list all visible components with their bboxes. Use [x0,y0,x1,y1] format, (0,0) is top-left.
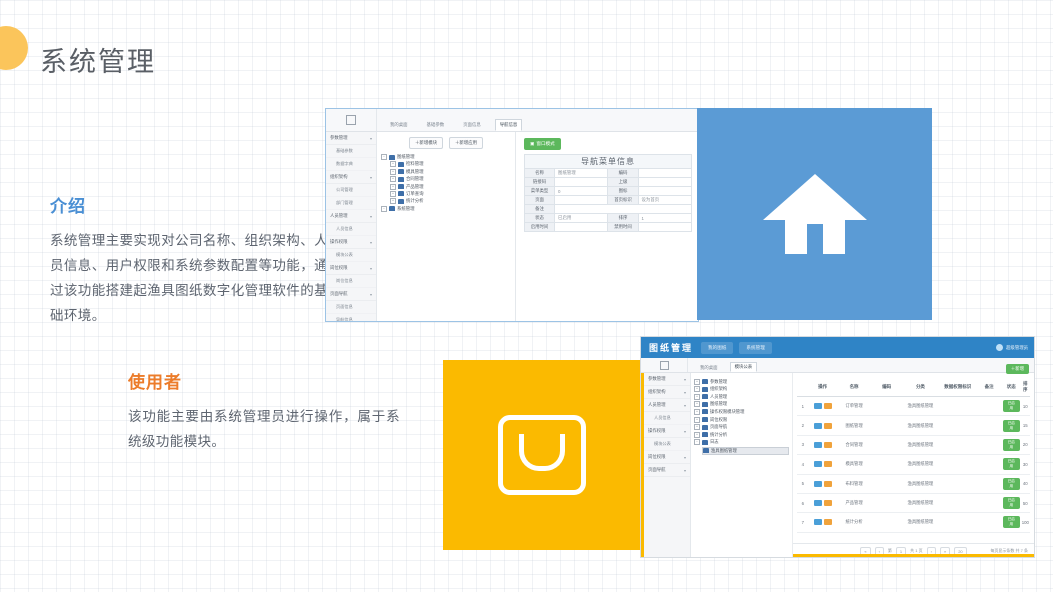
edit-icon[interactable] [824,423,832,429]
expand-icon[interactable]: + [694,401,700,407]
row-actions [810,481,836,487]
bottom-app-body: 参数管理 ▾ 组织架构 ▾ 人员管理 ▾ 人员信息 操作权限 ▾ 模块公表 岗位… [641,373,1034,558]
section-intro-body: 系统管理主要实现对公司名称、组织架构、人员信息、用户权限和系统参数配置等功能，通… [50,228,328,328]
field-value[interactable]: 1 [638,214,691,223]
field-value[interactable] [555,178,608,187]
cell-index: 3 [797,435,809,454]
sidebar-item-module-list[interactable]: 模块公表 [326,249,376,262]
panel-bag-illustration [443,360,640,550]
expand-icon[interactable]: + [390,191,396,197]
sidebar-item-module-list[interactable]: 模块公表 [644,438,690,451]
tab-basic-params[interactable]: 基础参数 [422,119,450,131]
folder-icon [702,402,708,407]
table-row[interactable]: 7 统计分析 渔具图纸管理 已启用 100 [797,513,1030,532]
sidebar-group-label: 组织架构 [648,389,666,395]
bottom-app-sidebar: 参数管理 ▾ 组织架构 ▾ 人员管理 ▾ 人员信息 操作权限 ▾ 模块公表 岗位… [644,373,691,558]
status-badge: 已启用 [1003,420,1020,432]
sidebar-item-post-info[interactable]: 岗位信息 [326,275,376,288]
footer-accent-bar [793,554,1034,558]
cell-index: 4 [797,455,809,474]
cell-memo [976,513,1002,532]
cell-code [872,397,902,416]
table-row[interactable]: 5 布料管理 渔具图纸管理 已启用 40 [797,474,1030,493]
cell-data-perm [939,474,976,493]
sidebar-group-staff[interactable]: 人员管理 ▾ [644,399,690,412]
sidebar-item-department[interactable]: 部门管理 [326,197,376,210]
cell-category: 渔具图纸管理 [902,416,939,435]
tree-node-selected[interactable]: 渔具图纸管理 [702,447,789,455]
cell-index: 2 [797,416,809,435]
field-value[interactable]: 0 [555,187,608,196]
section-user-heading: 使用者 [128,368,400,393]
cell-sort: 20 [1021,435,1030,454]
field-label: 编码 [608,169,638,178]
add-app-button[interactable]: ＋新增应用 [449,137,483,149]
status-badge: 已启用 [1003,439,1020,451]
sidebar-item-nav-info[interactable]: 导航信息 [326,314,376,322]
folder-icon [702,432,708,437]
expand-icon[interactable]: + [390,169,396,175]
view-icon[interactable] [814,442,822,448]
chevron-down-icon: ▾ [684,377,686,382]
tree-node-label: 统计分析 [710,432,727,438]
app-logo: 图纸管理 [641,341,701,354]
field-label: 链接码 [525,178,555,187]
cell-memo [976,493,1002,512]
status-badge: 已启用 [1003,497,1020,509]
col-code: 编码 [872,378,902,397]
cell-data-perm [939,397,976,416]
sidebar-group-label: 页面导航 [330,291,348,297]
folder-icon [702,409,708,414]
tree-node-label: 检料管理 [406,161,424,167]
field-label: 名称 [525,169,555,178]
cell-code [872,435,902,454]
cell-sort: 100 [1021,513,1030,532]
sidebar-item-page-info[interactable]: 页面信息 [326,301,376,314]
expand-icon[interactable]: + [694,386,700,392]
user-name: 超级管理员 [1006,345,1028,351]
hamburger-icon[interactable] [326,109,377,131]
cell-code [872,455,902,474]
folder-icon [398,169,404,174]
cell-index: 6 [797,493,809,512]
chevron-down-icon: ▾ [370,214,372,219]
row-actions [810,442,836,448]
home-icon [761,166,869,262]
sidebar-group-op-perm[interactable]: 操作权限 ▾ [644,425,690,438]
tree-node-label: 模具管理 [406,169,424,175]
field-value[interactable] [638,169,691,178]
module-tree-panel: +参数管理 +组织架构 +人员管理 +图纸管理 +操作权限模块管理 +岗位权限 … [691,373,793,558]
tree-node[interactable]: +人员管理 [694,394,789,400]
sidebar-group-org[interactable]: 组织架构 ▾ [644,386,690,399]
tree-node-label: 组织架构 [710,386,727,392]
cell-code [872,513,902,532]
add-module-label: 新增模块 [419,140,437,145]
cell-data-perm [939,435,976,454]
add-module-button[interactable]: ＋新增模块 [409,137,443,149]
add-button[interactable]: ＋新增 [1006,364,1029,374]
cell-memo [976,416,1002,435]
cell-code [872,474,902,493]
expand-icon[interactable]: + [390,198,396,204]
table-row[interactable]: 4 模具管理 渔具图纸管理 已启用 30 [797,455,1030,474]
cell-memo [976,435,1002,454]
row-actions [810,403,836,409]
field-label: 菜单类型 [525,187,555,196]
folder-icon [398,191,404,196]
folder-icon [702,379,708,384]
chevron-down-icon: ▾ [370,136,372,141]
tree-node-label: 页面导航 [710,424,727,430]
table-row[interactable]: 3 合同管理 渔具图纸管理 已启用 20 [797,435,1030,454]
tree-node-label: 岗位权限 [710,417,727,423]
folder-icon [702,440,708,445]
status-badge: 已启用 [1003,400,1020,412]
breadcrumb: 我的桌面 模块公表 [688,358,765,372]
chevron-down-icon: ▾ [684,468,686,473]
table-row[interactable]: 2 图纸管理 渔具图纸管理 已启用 15 [797,416,1030,435]
tree-node[interactable]: + 合同管理 [390,176,511,182]
col-category: 分类 [902,378,939,397]
expand-icon[interactable]: + [694,394,700,400]
bag-handle-icon [519,434,565,471]
cell-sort: 30 [1021,455,1030,474]
expand-icon[interactable]: + [694,424,700,430]
sidebar-group-label: 人员管理 [648,402,666,408]
sidebar-group-label: 组织架构 [330,174,348,180]
sidebar-group-page-nav[interactable]: 页面导航 ▾ [644,464,690,477]
expand-icon[interactable]: + [694,379,700,385]
sidebar-group-org[interactable]: 组织架构 ▾ [326,171,376,184]
section-intro-heading: 介绍 [50,192,328,217]
edit-icon[interactable] [824,403,832,409]
field-value[interactable]: 图纸管理 [555,169,608,178]
field-label: 图标 [608,187,638,196]
view-icon[interactable] [814,423,822,429]
status-badge: 已启用 [1003,458,1020,470]
sidebar-group-post-perm[interactable]: 岗位权限 ▾ [326,262,376,275]
view-icon[interactable] [814,500,822,506]
field-value[interactable] [555,205,692,214]
view-icon[interactable] [814,403,822,409]
tree-node[interactable]: + 统计分析 [390,198,511,204]
tree-node-label: 日志 [710,439,719,445]
nav-detail-panel: ▣ 窗口模式 导航菜单信息 名称 图纸管理 编码 链接码 上级 菜单类型 0 图… [516,132,698,322]
field-value[interactable] [555,196,608,205]
col-index [797,378,809,397]
sidebar-group-label: 操作权限 [648,428,666,434]
tree-node[interactable]: + 模具管理 [390,169,511,175]
field-value[interactable] [638,187,691,196]
tree-node[interactable]: + 检料管理 [390,161,511,167]
module-table-panel: ＋新增 操作 名称 编码 分类 数据权限标识 备注 状态 排序 1 订单管 [793,373,1034,558]
section-intro: 介绍 系统管理主要实现对公司名称、组织架构、人员信息、用户权限和系统参数配置等功… [50,192,328,328]
sidebar-group-label: 人员管理 [330,213,348,219]
tree-node[interactable]: +组织架构 [694,386,789,392]
sidebar-item-basic-params[interactable]: 基础参数 [326,145,376,158]
bottom-app-header: 图纸管理 我的图纸 系统管理 超级管理员 [641,337,1034,358]
top-app-tabs: 我的桌面 基础参数 页面信息 导航信息 [377,109,698,131]
view-icon[interactable] [814,461,822,467]
cell-memo [976,397,1002,416]
field-label: 首页标识 [608,196,638,205]
tab-my-desktop[interactable]: 我的桌面 [385,119,413,131]
row-actions [810,423,836,429]
module-table: 操作 名称 编码 分类 数据权限标识 备注 状态 排序 1 订单管理 渔具图纸管… [797,378,1030,533]
section-user: 使用者 该功能主要由系统管理员进行操作，属于系统级功能模块。 [128,368,400,454]
status-badge: 已启用 [1003,516,1020,528]
chevron-down-icon: ▾ [684,403,686,408]
cell-code [872,416,902,435]
edit-icon[interactable] [824,481,832,487]
edit-icon[interactable] [824,442,832,448]
cell-index: 1 [797,397,809,416]
field-value[interactable] [555,223,608,232]
expand-icon[interactable]: − [381,154,387,160]
row-actions [810,519,836,525]
window-mode-button[interactable]: ▣ 窗口模式 [524,138,561,150]
tree-node-label: 统计分析 [406,198,424,204]
folder-icon [702,394,708,399]
cell-name: 图纸管理 [837,416,872,435]
module-tree-panel: ＋新增模块 ＋新增应用 − 图纸管理 + 检料管理 + 模具管理 + [377,132,516,322]
top-app-toolbar: 我的桌面 基础参数 页面信息 导航信息 [326,109,698,132]
tree-node-label: 图纸管理 [397,154,415,160]
col-name: 名称 [837,378,872,397]
cell-data-perm [939,455,976,474]
field-label: 上级 [608,178,638,187]
field-value[interactable] [638,178,691,187]
field-label: 状态 [525,214,555,223]
folder-icon [703,448,709,453]
cell-name: 产品管理 [837,493,872,512]
chevron-down-icon: ▾ [370,292,372,297]
window-icon: ▣ [530,141,534,147]
hamburger-icon[interactable] [641,358,688,372]
panel-home-illustration [697,108,932,320]
cell-name: 模具管理 [837,455,872,474]
cell-name: 布料管理 [837,474,872,493]
folder-icon [398,184,404,189]
expand-icon[interactable]: + [694,432,700,438]
user-menu[interactable]: 超级管理员 [996,344,1028,351]
folder-icon [702,387,708,392]
tab-page-info[interactable]: 页面信息 [458,119,486,131]
tree-node-label: 渔具图纸管理 [711,448,737,454]
tree-node-label: 合同管理 [406,176,424,182]
sidebar-item-company[interactable]: 公司管理 [326,184,376,197]
add-app-label: 新增应用 [459,140,477,145]
tree-node-label: 人员管理 [710,394,727,400]
tree-node[interactable]: − 图纸管理 [381,154,511,160]
cell-sort: 40 [1021,474,1030,493]
view-icon[interactable] [814,519,822,525]
tree-node-label: 操作权限模块管理 [710,409,744,415]
tree-node[interactable]: +操作权限模块管理 [694,409,789,415]
page-title: 系统管理 [40,40,156,79]
view-icon[interactable] [814,481,822,487]
sidebar-group-page-nav[interactable]: 页面导航 ▾ [326,288,376,301]
sidebar-group-staff[interactable]: 人员管理 ▾ [326,210,376,223]
folder-icon [389,206,395,211]
tree-node[interactable]: +页面导航 [694,424,789,430]
sidebar-group-label: 岗位权限 [648,454,666,460]
sidebar-group-label: 页面导航 [648,467,666,473]
expand-icon[interactable]: + [694,409,700,415]
sidebar-group-label: 参数管理 [330,135,348,141]
chevron-down-icon: ▾ [684,390,686,395]
field-label: 页面 [525,196,555,205]
expand-icon[interactable]: + [390,176,396,182]
header-tab-my-drawings[interactable]: 我的图纸 [701,342,733,354]
edit-icon[interactable] [824,461,832,467]
cell-memo [976,455,1002,474]
header-tab-system[interactable]: 系统管理 [739,342,771,354]
cell-category: 渔具图纸管理 [902,493,939,512]
crumb-module-list[interactable]: 模块公表 [730,362,758,372]
folder-icon [702,417,708,422]
table-row[interactable]: 6 产品管理 渔具图纸管理 已启用 50 [797,493,1030,512]
cell-index: 5 [797,474,809,493]
window-mode-label: 窗口模式 [536,141,554,147]
sidebar-group-params[interactable]: 参数管理 ▾ [326,132,376,145]
cell-name: 订单管理 [837,397,872,416]
tab-nav-info[interactable]: 导航信息 [495,119,523,131]
crumb-my-desktop[interactable]: 我的桌面 [696,364,722,372]
cell-memo [976,474,1002,493]
sidebar-item-staff-info[interactable]: 人员信息 [326,223,376,236]
tree-node-label: 系统管理 [397,206,415,212]
cell-category: 渔具图纸管理 [902,513,939,532]
decorative-circle [0,26,28,70]
row-actions [810,500,836,506]
avatar [996,344,1003,351]
top-app-sidebar: 参数管理 ▾ 基础参数 数据字典 组织架构 ▾ 公司管理 部门管理 人员管理 ▾… [326,132,377,322]
tree-node[interactable]: −日志 [694,439,789,445]
status-badge: 已启用 [1003,478,1020,490]
cell-sort: 50 [1021,493,1030,512]
cell-category: 渔具图纸管理 [902,397,939,416]
cell-sort: 10 [1021,397,1030,416]
tree-node[interactable]: + 产品管理 [390,184,511,190]
folder-icon [389,155,395,160]
tree-node[interactable]: +图纸管理 [694,401,789,407]
folder-icon [398,177,404,182]
sidebar-group-label: 操作权限 [330,239,348,245]
nav-info-form: 导航菜单信息 名称 图纸管理 编码 链接码 上级 菜单类型 0 图标 页面 [524,154,692,232]
sidebar-item-dictionary[interactable]: 数据字典 [326,158,376,171]
tree-action-buttons: ＋新增模块 ＋新增应用 [381,137,511,149]
col-data-perm: 数据权限标识 [939,378,976,397]
col-actions: 操作 [809,378,837,397]
chevron-down-icon: ▾ [370,266,372,271]
edit-icon[interactable] [824,500,832,506]
cell-sort: 15 [1021,416,1030,435]
folder-icon [702,425,708,430]
expand-icon[interactable]: + [390,161,396,167]
add-button-label: 新增 [1015,366,1024,371]
table-header-row: 操作 名称 编码 分类 数据权限标识 备注 状态 排序 [797,378,1030,397]
cell-data-perm [939,493,976,512]
expand-icon[interactable]: − [694,439,700,445]
cell-code [872,493,902,512]
cell-category: 渔具图纸管理 [902,474,939,493]
tree-node-label: 图纸管理 [710,401,727,407]
chevron-down-icon: ▾ [684,429,686,434]
sidebar-group-op-perm[interactable]: 操作权限 ▾ [326,236,376,249]
screenshot-navigation-menu: 我的桌面 基础参数 页面信息 导航信息 参数管理 ▾ 基础参数 数据字典 组织架… [325,108,699,322]
section-user-body: 该功能主要由系统管理员进行操作，属于系统级功能模块。 [128,404,400,454]
field-value[interactable] [638,223,691,232]
field-value[interactable]: 已启用 [555,214,608,223]
tree-node-label: 参数管理 [710,379,727,385]
tree-node[interactable]: +岗位权限 [694,417,789,423]
field-label: 禁用时间 [608,223,638,232]
expand-icon[interactable]: − [381,206,387,212]
bottom-app-subbar: 我的桌面 模块公表 [641,358,1034,373]
table-row[interactable]: 1 订单管理 渔具图纸管理 已启用 10 [797,397,1030,416]
tree-node-label: 订单查询 [406,191,424,197]
sidebar-group-params[interactable]: 参数管理 ▾ [644,373,690,386]
tree-node[interactable]: + 订单查询 [390,191,511,197]
tree-node[interactable]: +统计分析 [694,432,789,438]
field-label: 备注 [525,205,555,214]
col-sort: 排序 [1021,378,1030,397]
cell-data-perm [939,416,976,435]
col-memo: 备注 [976,378,1002,397]
cell-name: 合同管理 [837,435,872,454]
tree-node[interactable]: +参数管理 [694,379,789,385]
sidebar-group-label: 参数管理 [648,376,666,382]
expand-icon[interactable]: + [390,184,396,190]
expand-icon[interactable]: + [694,417,700,423]
folder-icon [398,199,404,204]
sidebar-item-staff-info[interactable]: 人员信息 [644,412,690,425]
tree-node-label: 产品管理 [406,184,424,190]
sidebar-group-label: 岗位权限 [330,265,348,271]
tree-node[interactable]: − 系统管理 [381,206,511,212]
top-app-body: 参数管理 ▾ 基础参数 数据字典 组织架构 ▾ 公司管理 部门管理 人员管理 ▾… [326,132,698,322]
edit-icon[interactable] [824,519,832,525]
cell-category: 渔具图纸管理 [902,435,939,454]
shopping-bag-icon [498,415,586,495]
chevron-down-icon: ▾ [370,240,372,245]
sidebar-group-post-perm[interactable]: 岗位权限 ▾ [644,451,690,464]
cell-category: 渔具图纸管理 [902,455,939,474]
folder-icon [398,162,404,167]
screenshot-module-list: 图纸管理 我的图纸 系统管理 超级管理员 我的桌面 模块公表 参数管理 ▾ 组织… [640,336,1035,558]
chevron-down-icon: ▾ [684,455,686,460]
cell-data-perm [939,513,976,532]
form-caption: 导航菜单信息 [525,155,692,169]
chevron-down-icon: ▾ [370,175,372,180]
row-actions [810,461,836,467]
field-value[interactable]: 设为首页 [638,196,691,205]
cell-index: 7 [797,513,809,532]
field-label: 排序 [608,214,638,223]
field-label: 启用时间 [525,223,555,232]
cell-name: 统计分析 [837,513,872,532]
col-status: 状态 [1002,378,1021,397]
